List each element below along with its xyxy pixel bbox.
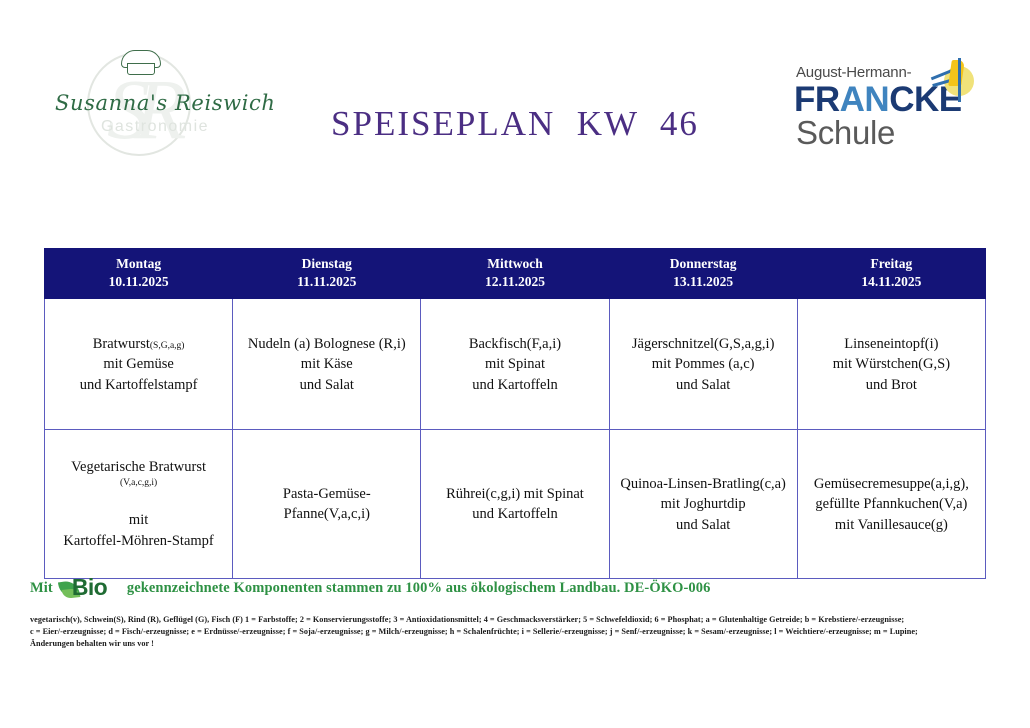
bio-statement-prefix: Mit [30,580,53,597]
menu-cell: Pasta-Gemüse-Pfanne(V,a,c,i) [233,430,421,579]
document-footer: Mit Bio gekennzeichnete Komponenten stam… [30,576,990,650]
dish-detail-line: gefüllte Pfannkuchen(V,a) [815,496,967,512]
allergen-legend-line: Änderungen behalten wir uns vor ! [30,638,990,650]
dish-name: Backfisch(F,a,i) [469,336,561,352]
dish-detail-line: mit Spinat [485,356,545,372]
dish-detail-line: und Salat [300,377,354,393]
header-day-date: 11.11.2025 [235,273,418,291]
column-header-montag: Montag 10.11.2025 [45,249,233,299]
dish-name: Linseneintopf(i) [844,336,938,352]
francke-logo-line3: Schule [796,114,895,152]
francke-logo-line1: August-Hermann- [796,64,911,81]
dish-detail-line: mit Würstchen(G,S) [833,356,950,372]
menu-cell: Jägerschnitzel(G,S,a,g,i)mit Pommes (a,c… [609,299,797,430]
dish-name: Vegetarische Bratwurst [71,459,206,475]
header-day-name: Montag [47,255,230,273]
header-day-name: Mittwoch [423,255,606,273]
table-row-vegetarian-menu: Vegetarische Bratwurst(V,a,c,g,i)mitKart… [45,430,986,579]
header-day-date: 13.11.2025 [612,273,795,291]
dish-detail-line: mit Käse [301,356,353,372]
dish-detail-line: und Salat [676,517,730,533]
header-day-name: Freitag [800,255,983,273]
dish-name: Quinoa-Linsen-Bratling(c,a) [620,476,785,492]
dish-detail-line: und Salat [676,377,730,393]
column-header-mittwoch: Mittwoch 12.11.2025 [421,249,609,299]
dish-detail-line: mit Pommes (a,c) [652,356,755,372]
dish-allergen-codes: (S,G,a,g) [150,341,185,351]
dish-detail-line: Kartoffel-Möhren-Stampf [63,533,213,549]
dish-name: Gemüsecremesuppe(a,i,g), [814,476,969,492]
menu-cell: Vegetarische Bratwurst(V,a,c,g,i)mitKart… [45,430,233,579]
dish-detail-line: Pfanne(V,a,c,i) [284,506,370,522]
dish-name: Bratwurst [93,336,150,352]
dish-detail-line: und Kartoffelstampf [80,377,198,393]
allergen-legend: vegetarisch(v), Schwein(S), Rind (R), Ge… [30,614,990,650]
menu-cell: Linseneintopf(i)mit Würstchen(G,S)und Br… [797,299,985,430]
dish-detail-line: und Brot [866,377,917,393]
menu-cell: Bratwurst(S,G,a,g)mit Gemüseund Kartoffe… [45,299,233,430]
menu-cell: Gemüsecremesuppe(a,i,g),gefüllte Pfannku… [797,430,985,579]
dish-allergen-codes: (V,a,c,g,i) [51,478,226,490]
dish-name: Pasta-Gemüse- [283,486,371,502]
susanna-reiswich-logo: SR Susanna's Reiswich Gastronomie [55,46,255,166]
susanna-logo-name: Susanna's Reiswich [55,91,255,115]
header-day-name: Donnerstag [612,255,795,273]
dish-detail-line: und Kartoffeln [472,506,558,522]
table-row-main-menu: Bratwurst(S,G,a,g)mit Gemüseund Kartoffe… [45,299,986,430]
document-header: SR Susanna's Reiswich Gastronomie SPEISE… [0,0,1030,200]
menu-cell: Rührei(c,g,i) mit Spinatund Kartoffeln [421,430,609,579]
francke-schule-logo: August-Hermann- FRANCKE Schule [788,58,978,158]
bio-logo-icon: Bio [59,577,121,599]
dish-detail-line: mit Vanillesauce(g) [835,517,948,533]
bio-logo-text: Bio [72,574,107,601]
dish-name: Nudeln (a) Bolognese (R,i) [248,336,406,352]
allergen-legend-line: vegetarisch(v), Schwein(S), Rind (R), Ge… [30,614,990,626]
francke-emblem-icon [930,58,978,104]
bio-statement: Mit Bio gekennzeichnete Komponenten stam… [30,576,990,600]
header-day-date: 12.11.2025 [423,273,606,291]
susanna-logo-subtitle: Gastronomie [55,118,255,136]
column-header-donnerstag: Donnerstag 13.11.2025 [609,249,797,299]
dish-detail-line: mit [129,512,148,528]
dish-name: Jägerschnitzel(G,S,a,g,i) [632,336,775,352]
column-header-freitag: Freitag 14.11.2025 [797,249,985,299]
menu-cell: Nudeln (a) Bolognese (R,i)mit Käseund Sa… [233,299,421,430]
menu-cell: Backfisch(F,a,i)mit Spinatund Kartoffeln [421,299,609,430]
header-day-name: Dienstag [235,255,418,273]
menu-cell: Quinoa-Linsen-Bratling(c,a)mit Joghurtdi… [609,430,797,579]
table-header-row: Montag 10.11.2025 Dienstag 11.11.2025 Mi… [45,249,986,299]
header-day-date: 14.11.2025 [800,273,983,291]
column-header-dienstag: Dienstag 11.11.2025 [233,249,421,299]
allergen-legend-line: c = Eier/-erzeugnisse; d = Fisch/-erzeug… [30,626,990,638]
dish-detail-line: und Kartoffeln [472,377,558,393]
page-title: SPEISEPLAN KW 46 [255,104,775,144]
weekly-menu-table: Montag 10.11.2025 Dienstag 11.11.2025 Mi… [44,248,986,579]
menu-table-container: Montag 10.11.2025 Dienstag 11.11.2025 Mi… [44,248,986,579]
header-day-date: 10.11.2025 [47,273,230,291]
bio-statement-suffix: gekennzeichnete Komponenten stammen zu 1… [127,580,711,597]
dish-detail-line: mit Gemüse [103,356,173,372]
dish-detail-line: mit Joghurtdip [661,496,746,512]
dish-name: Rührei(c,g,i) mit Spinat [446,486,584,502]
